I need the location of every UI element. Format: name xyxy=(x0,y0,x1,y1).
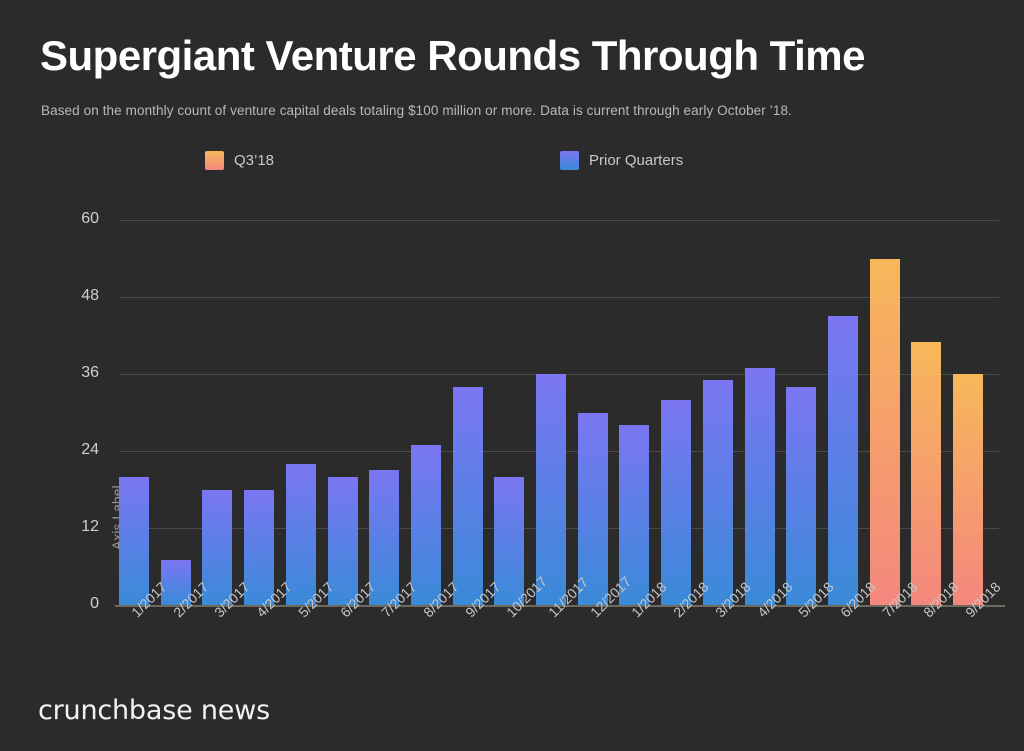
x-tick-label: 7/2018 xyxy=(879,579,921,621)
x-tick-label: 4/2017 xyxy=(253,579,295,621)
legend-item-prior-quarters[interactable]: Prior Quarters xyxy=(560,151,683,170)
chart-legend: Q3’18 Prior Quarters xyxy=(205,151,765,177)
bar-1-2018[interactable] xyxy=(619,425,649,605)
x-tick-label: 11/2017 xyxy=(545,574,591,620)
page-subtitle: Based on the monthly count of venture ca… xyxy=(41,103,792,118)
x-tick-label: 7/2017 xyxy=(378,579,420,621)
bar-3-2017[interactable] xyxy=(202,490,232,606)
bar-8-2017[interactable] xyxy=(411,445,441,605)
bar-1-2017[interactable] xyxy=(119,477,149,605)
x-tick-label: 3/2017 xyxy=(211,579,253,621)
bar-7-2017[interactable] xyxy=(369,470,399,605)
gridline xyxy=(119,297,999,298)
x-axis-line xyxy=(115,605,1005,607)
bar-8-2018[interactable] xyxy=(911,342,941,605)
bar-4-2017[interactable] xyxy=(244,490,274,606)
x-tick-label: 5/2018 xyxy=(795,579,837,621)
blue-swatch-icon xyxy=(560,151,579,170)
legend-label-prior-quarters: Prior Quarters xyxy=(589,152,683,169)
y-tick-label: 48 xyxy=(29,287,99,305)
bar-5-2018[interactable] xyxy=(786,387,816,605)
crunchbase-news-logo: crunchbase news xyxy=(38,695,270,726)
x-tick-label: 4/2018 xyxy=(754,579,796,621)
gridline xyxy=(119,451,999,452)
x-tick-label: 1/2017 xyxy=(128,579,170,621)
x-tick-label: 9/2018 xyxy=(962,579,1004,621)
x-tick-label: 3/2018 xyxy=(712,579,754,621)
bar-12-2017[interactable] xyxy=(578,413,608,606)
x-tick-label: 10/2017 xyxy=(503,573,550,620)
x-tick-label: 12/2017 xyxy=(587,573,634,620)
x-tick-label: 8/2017 xyxy=(420,579,462,621)
gridline xyxy=(119,374,999,375)
orange-swatch-icon xyxy=(205,151,224,170)
bar-series xyxy=(119,220,999,605)
bar-10-2017[interactable] xyxy=(494,477,524,605)
y-axis-title: Axis Label xyxy=(109,485,125,550)
x-tick-label: 2/2018 xyxy=(670,579,712,621)
x-tick-label: 8/2018 xyxy=(920,579,962,621)
page-title: Supergiant Venture Rounds Through Time xyxy=(40,30,865,82)
x-tick-label: 5/2017 xyxy=(295,579,337,621)
y-tick-label: 12 xyxy=(29,518,99,536)
y-tick-label: 24 xyxy=(29,441,99,459)
x-tick-label: 1/2018 xyxy=(628,579,670,621)
bar-4-2018[interactable] xyxy=(745,368,775,605)
y-tick-label: 0 xyxy=(29,595,99,613)
bar-2-2017[interactable] xyxy=(161,560,191,605)
gridline xyxy=(119,605,999,606)
bar-3-2018[interactable] xyxy=(703,380,733,605)
x-axis-ticks: 1/20172/20173/20174/20175/20176/20177/20… xyxy=(119,609,1019,699)
x-tick-label: 9/2017 xyxy=(462,579,504,621)
bar-6-2018[interactable] xyxy=(828,316,858,605)
x-tick-label: 6/2017 xyxy=(337,579,379,621)
bar-7-2018[interactable] xyxy=(870,259,900,606)
bar-9-2018[interactable] xyxy=(953,374,983,605)
bar-6-2017[interactable] xyxy=(328,477,358,605)
x-tick-label: 2/2017 xyxy=(170,579,212,621)
legend-label-q318: Q3’18 xyxy=(234,152,274,169)
gridline xyxy=(119,528,999,529)
bar-5-2017[interactable] xyxy=(286,464,316,605)
bar-9-2017[interactable] xyxy=(453,387,483,605)
x-tick-label: 6/2018 xyxy=(837,579,879,621)
plot-area: Axis Label 01224364860 xyxy=(119,220,999,605)
gridline xyxy=(119,220,999,221)
bar-2-2018[interactable] xyxy=(661,400,691,605)
y-tick-label: 60 xyxy=(29,210,99,228)
y-tick-label: 36 xyxy=(29,364,99,382)
legend-item-q318[interactable]: Q3’18 xyxy=(205,151,274,170)
chart-page: Supergiant Venture Rounds Through Time B… xyxy=(0,0,1024,751)
bar-11-2017[interactable] xyxy=(536,374,566,605)
